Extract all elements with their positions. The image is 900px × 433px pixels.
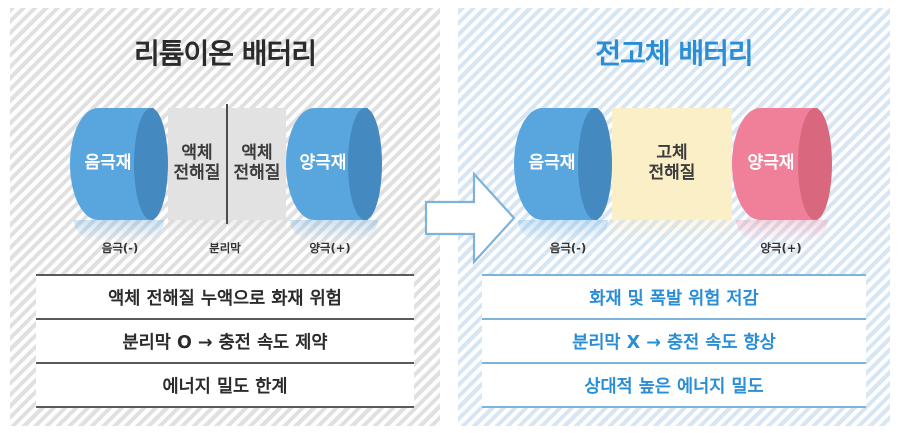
- cathode-cylinder: 양극재: [732, 108, 832, 220]
- liquid-electrolyte-right-reflection: [228, 220, 286, 242]
- solid-state-electrode-labels: 음극(-) 양극(+): [458, 240, 890, 260]
- anode-cylinder: 음극재: [70, 108, 168, 220]
- anode-reflection: [518, 220, 608, 242]
- lithium-ion-electrode-labels: 음극(-) 분리막 양극(+): [10, 240, 440, 260]
- anode-reflection: [74, 220, 164, 242]
- anode-cylinder: 음극재: [514, 108, 612, 220]
- page-title-lithium-ion: 리튬이온 배터리: [10, 32, 440, 72]
- table-row: 에너지 밀도 한계: [36, 362, 414, 408]
- lithium-ion-battery-diagram: 음극재 액체 전해질 액체 전해질: [10, 108, 440, 228]
- table-row: 분리막 O → 충전 속도 제약: [36, 318, 414, 362]
- solid-electrolyte-label: 고체 전해질: [649, 144, 696, 183]
- liquid-electrolyte-right: 액체 전해질: [228, 108, 286, 220]
- anode-terminal-label: 음극(-): [518, 240, 618, 256]
- page-title-solid-state: 전고체 배터리: [458, 32, 890, 72]
- anode-label: 음극재: [70, 108, 146, 220]
- table-row: 분리막 X → 충전 속도 향상: [482, 318, 866, 362]
- table-row: 화재 및 폭발 위험 저감: [482, 274, 866, 318]
- cathode-cylinder: 양극재: [286, 108, 382, 220]
- table-row: 상대적 높은 에너지 밀도: [482, 362, 866, 408]
- right-arrow-icon: [424, 166, 516, 270]
- cathode-terminal-label: 양극(+): [731, 240, 831, 256]
- anode-terminal-label: 음극(-): [70, 240, 170, 256]
- separator-label: 분리막: [175, 240, 275, 256]
- solid-state-feature-table: 화재 및 폭발 위험 저감 분리막 X → 충전 속도 향상 상대적 높은 에너…: [482, 274, 866, 408]
- solid-state-battery-diagram: 음극재 고체 전해질 양극재: [458, 108, 890, 228]
- cathode-reflection: [290, 220, 378, 242]
- liquid-electrolyte-left: 액체 전해질: [168, 108, 226, 220]
- cathode-label: 양극재: [286, 108, 360, 220]
- cathode-reflection: [736, 220, 828, 242]
- anode-label: 음극재: [514, 108, 590, 220]
- separator-membrane-line: [226, 104, 228, 224]
- solid-electrolyte: 고체 전해질: [612, 108, 732, 220]
- liquid-electrolyte-left-label: 액체 전해질: [174, 144, 221, 183]
- cathode-label: 양극재: [732, 108, 810, 220]
- solid-electrolyte-reflection: [612, 220, 732, 242]
- lithium-ion-panel: 리튬이온 배터리 음극재 액체 전해질: [10, 8, 440, 426]
- liquid-electrolyte-right-label: 액체 전해질: [234, 144, 281, 183]
- cathode-terminal-label: 양극(+): [280, 240, 380, 256]
- liquid-electrolyte-left-reflection: [168, 220, 226, 242]
- infographic-canvas: 리튬이온 배터리 음극재 액체 전해질: [0, 0, 900, 433]
- table-row: 액체 전해질 누액으로 화재 위험: [36, 274, 414, 318]
- lithium-ion-feature-table: 액체 전해질 누액으로 화재 위험 분리막 O → 충전 속도 제약 에너지 밀…: [36, 274, 414, 408]
- solid-state-panel: 전고체 배터리 음극재 고체 전해질: [458, 8, 890, 426]
- transition-arrow: [424, 166, 516, 270]
